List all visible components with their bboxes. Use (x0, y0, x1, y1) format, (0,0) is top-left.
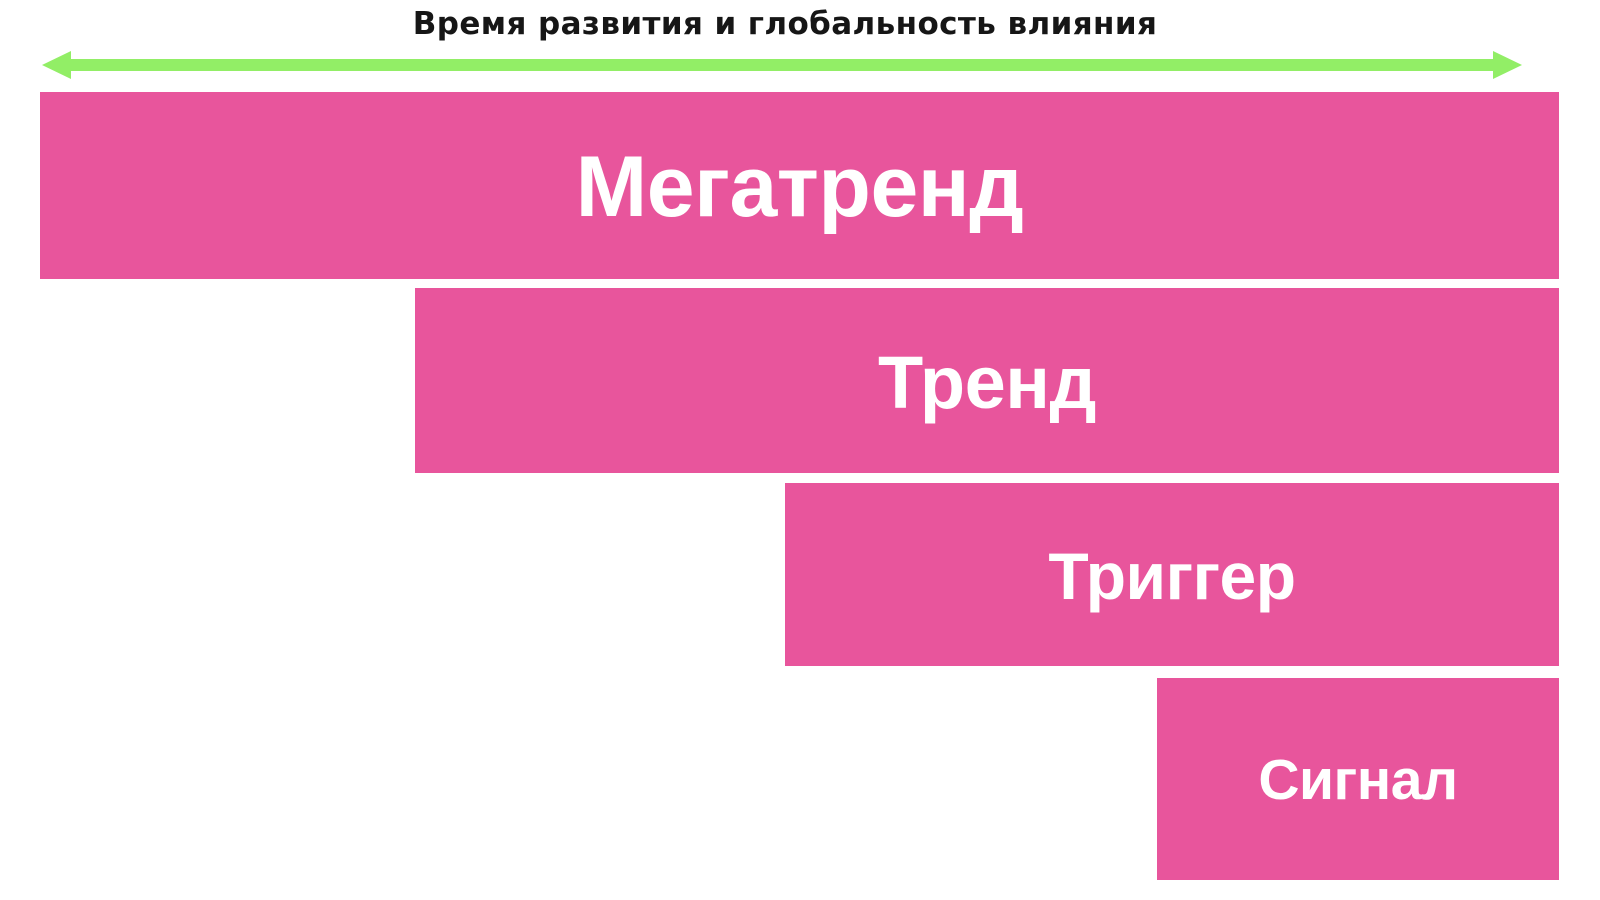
bar-trigger-label: Триггер (1048, 542, 1295, 611)
bar-trend[interactable]: Тренд (415, 288, 1559, 473)
page-title: Время развития и глобальность влияния (0, 6, 1570, 42)
bar-signal-label: Сигнал (1258, 751, 1457, 811)
bar-trend-label: Тренд (878, 344, 1096, 422)
bar-megatrend[interactable]: Мегатренд (40, 92, 1559, 279)
trend-hierarchy-diagram: Время развития и глобальность влияния Ме… (0, 0, 1600, 900)
bar-trigger[interactable]: Триггер (785, 483, 1559, 666)
bar-megatrend-label: Мегатренд (576, 142, 1024, 232)
double-headed-arrow-icon (42, 48, 1522, 82)
bar-signal[interactable]: Сигнал (1157, 678, 1559, 880)
